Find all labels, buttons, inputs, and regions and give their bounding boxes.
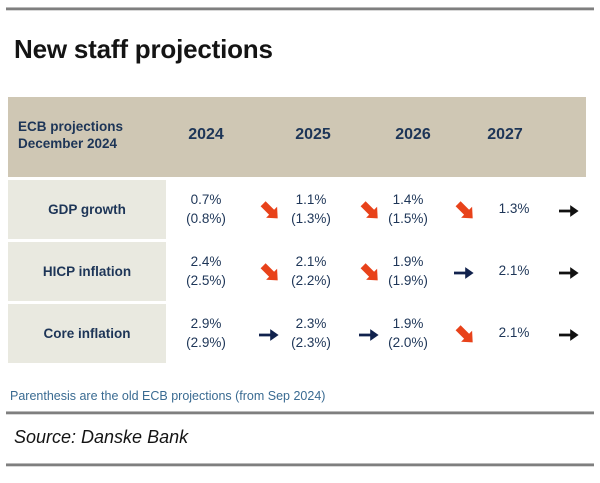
value-cell: 2.9% (2.9%) xyxy=(168,314,244,352)
value-current: 2.3% xyxy=(273,314,349,333)
arrow-right-icon xyxy=(556,323,582,347)
value-current: 1.3% xyxy=(476,199,552,218)
value-cell: 2.3% (2.3%) xyxy=(273,314,349,352)
value-current: 2.1% xyxy=(476,261,552,280)
value-cell: 0.7% (0.8%) xyxy=(168,190,244,228)
table-row: GDP growth 0.7% (0.8%) 1.1% (1.3%) 1.4% … xyxy=(8,180,586,239)
value-current: 2.1% xyxy=(273,252,349,271)
source-caption: Source: Danske Bank xyxy=(14,427,188,448)
value-cell: 1.9% (2.0%) xyxy=(370,314,446,352)
source-divider-rule xyxy=(6,411,594,415)
table-header-row: ECB projections December 2024 2024 2025 … xyxy=(8,97,586,177)
value-cell: 2.1% (2.2%) xyxy=(273,252,349,290)
figure-container: New staff projections ECB projections De… xyxy=(0,0,600,483)
value-current: 2.9% xyxy=(168,314,244,333)
column-header-2026: 2026 xyxy=(378,126,448,144)
arrow-down-right-icon xyxy=(451,199,477,223)
arrow-right-icon xyxy=(556,199,582,223)
value-previous: (2.3%) xyxy=(273,333,349,352)
row-label: HICP inflation xyxy=(8,242,166,301)
table-footnote: Parenthesis are the old ECB projections … xyxy=(10,389,325,403)
value-previous: (2.2%) xyxy=(273,271,349,290)
value-previous: (1.3%) xyxy=(273,209,349,228)
value-previous: (2.5%) xyxy=(168,271,244,290)
column-header-2027: 2027 xyxy=(470,126,540,144)
column-header-2025: 2025 xyxy=(278,126,348,144)
table-header-label: ECB projections December 2024 xyxy=(18,118,123,152)
value-previous: (1.9%) xyxy=(370,271,446,290)
value-current: 1.9% xyxy=(370,314,446,333)
value-previous: (2.9%) xyxy=(168,333,244,352)
value-current: 2.1% xyxy=(476,323,552,342)
value-previous: (1.5%) xyxy=(370,209,446,228)
arrow-right-icon xyxy=(556,261,582,285)
top-divider-rule xyxy=(6,7,594,11)
row-label: Core inflation xyxy=(8,304,166,363)
arrow-down-right-icon xyxy=(451,323,477,347)
row-label: GDP growth xyxy=(8,180,166,239)
page-title: New staff projections xyxy=(14,34,273,65)
table-row: HICP inflation 2.4% (2.5%) 2.1% (2.2%) 1… xyxy=(8,242,586,301)
value-cell: 2.1% xyxy=(476,323,552,342)
arrow-right-icon xyxy=(451,261,477,285)
value-previous: (2.0%) xyxy=(370,333,446,352)
value-previous: (0.8%) xyxy=(168,209,244,228)
value-current: 0.7% xyxy=(168,190,244,209)
value-current: 2.4% xyxy=(168,252,244,271)
column-header-2024: 2024 xyxy=(171,126,241,144)
value-cell: 2.1% xyxy=(476,261,552,280)
projections-table: ECB projections December 2024 2024 2025 … xyxy=(8,97,586,363)
value-cell: 2.4% (2.5%) xyxy=(168,252,244,290)
value-current: 1.1% xyxy=(273,190,349,209)
value-current: 1.4% xyxy=(370,190,446,209)
value-cell: 1.1% (1.3%) xyxy=(273,190,349,228)
value-cell: 1.3% xyxy=(476,199,552,218)
value-cell: 1.4% (1.5%) xyxy=(370,190,446,228)
table-row: Core inflation 2.9% (2.9%) 2.3% (2.3%) 1… xyxy=(8,304,586,363)
value-current: 1.9% xyxy=(370,252,446,271)
value-cell: 1.9% (1.9%) xyxy=(370,252,446,290)
bottom-divider-rule xyxy=(6,463,594,467)
